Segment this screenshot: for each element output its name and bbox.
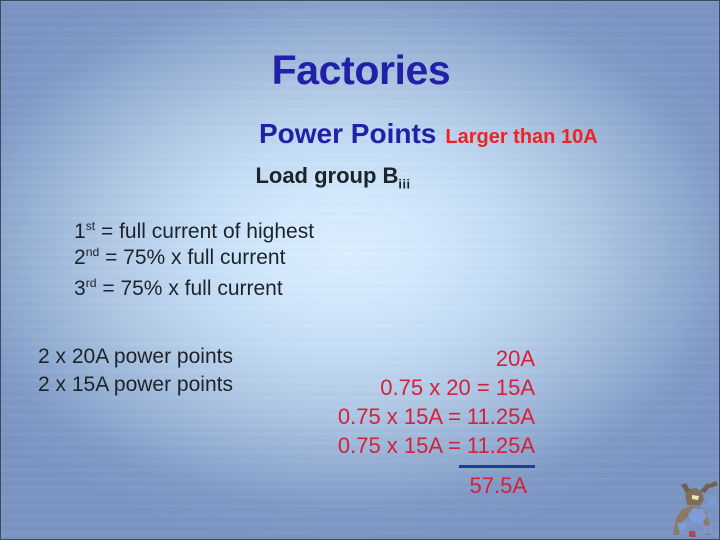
rule-ordinal: 2 [74,246,86,269]
list-item: 2 x 20A power points [38,345,233,369]
load-group-subscript: iii [398,176,410,191]
demand-rules-list: 1st = full current of highest 2nd = 75% … [74,220,314,301]
load-group-label: Load group Biii [1,163,665,191]
calculation-line: 0.75 x 15A = 11.25A [284,404,535,430]
power-points-list: 2 x 20A power points 2 x 15A power point… [38,345,233,401]
rule-ordinal: 1 [74,220,86,243]
slide-canvas: Factories Power Points Larger than 10A L… [0,0,720,540]
calculation-line: 20A [284,346,535,372]
calculation-line: 0.75 x 15A = 11.25A [284,433,535,459]
load-group-text: Load group B [255,163,398,188]
page-title: Factories [1,49,720,92]
rule-ordinal: 3 [74,277,86,300]
rule-text: = full current of highest [95,220,314,243]
list-item: 1st = full current of highest [74,220,314,244]
list-item: 3rd = 75% x full current [74,277,314,301]
subtitle-note: Larger than 10A [445,126,597,149]
total-divider [459,465,535,468]
list-item: 2nd = 75% x full current [74,246,314,270]
rule-text: = 75% x full current [97,277,283,300]
calculation-line: 0.75 x 20 = 15A [284,375,535,401]
rule-ordinal-suffix: nd [86,245,100,259]
rule-ordinal-suffix: st [86,219,95,233]
calculation-column: 20A 0.75 x 20 = 15A 0.75 x 15A = 11.25A … [284,346,535,499]
rule-text: = 75% x full current [99,246,285,269]
subtitle-heading: Power Points [259,118,436,150]
list-item: 2 x 15A power points [38,373,233,397]
total-value: 57.5A [284,473,535,499]
deer-mascot-icon [659,479,720,540]
rule-ordinal-suffix: rd [86,276,97,290]
subtitle-row: Power Points Larger than 10A [259,118,711,150]
